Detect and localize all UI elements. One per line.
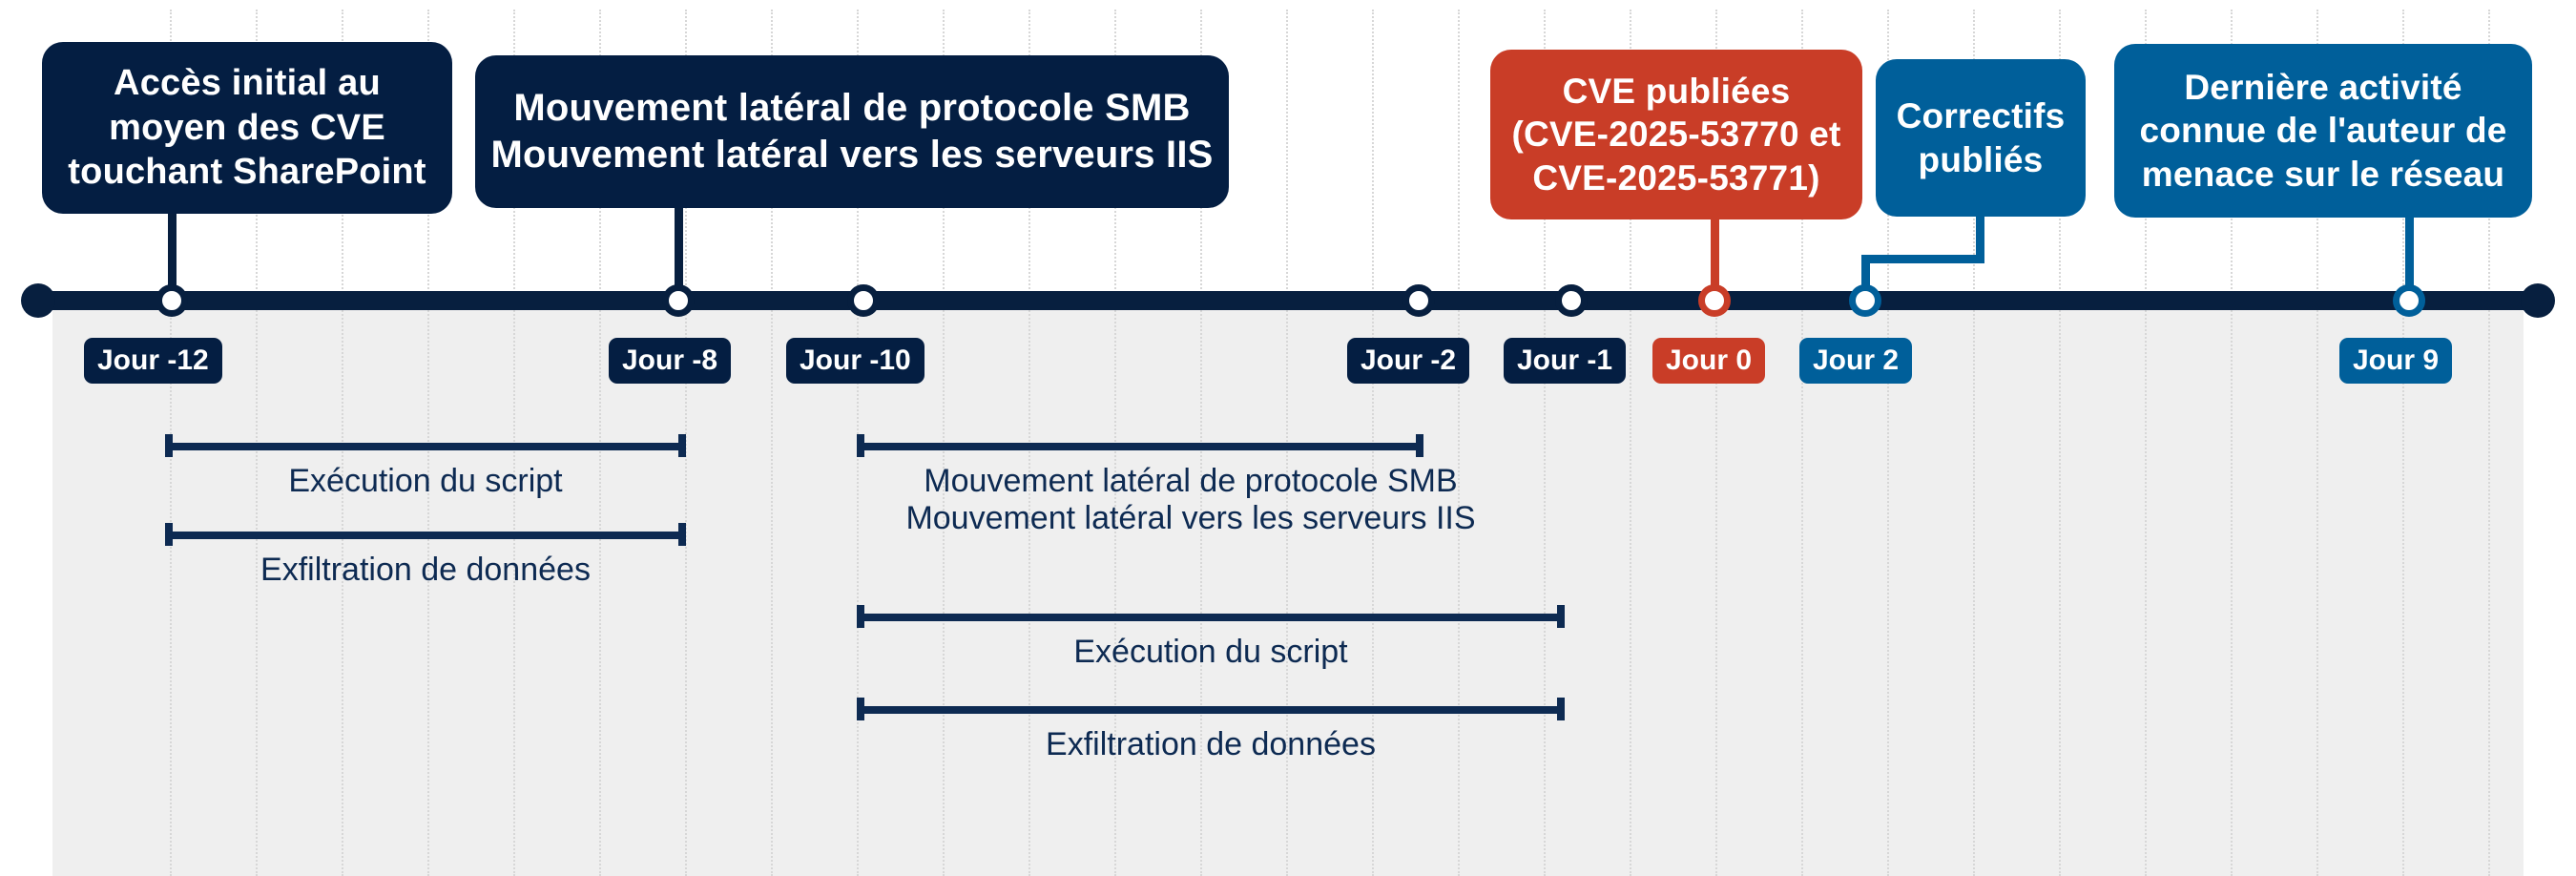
bracket-tick-right xyxy=(1416,434,1423,457)
bracket-bar xyxy=(857,443,1423,450)
day-chip-jour-minus-12[interactable]: Jour -12 xyxy=(84,338,222,384)
bracket-label-script-execution-early: Exécution du script xyxy=(165,463,686,500)
node-jour-0[interactable] xyxy=(1698,284,1731,317)
day-chip-jour-minus-8[interactable]: Jour -8 xyxy=(609,338,731,384)
bracket-tick-right xyxy=(1557,605,1565,628)
day-chip-label: Jour 0 xyxy=(1666,344,1752,377)
axis-start-cap xyxy=(21,283,55,318)
node-jour-minus-10[interactable] xyxy=(847,284,880,317)
day-chip-label: Jour 2 xyxy=(1813,344,1899,377)
day-chip-label: Jour -12 xyxy=(97,344,209,377)
day-chip-jour-minus-2[interactable]: Jour -2 xyxy=(1347,338,1469,384)
bracket-bar xyxy=(165,443,686,450)
event-card-text: Dernière activité connue de l'auteur de … xyxy=(2139,66,2506,195)
day-chip-label: Jour -8 xyxy=(622,344,717,377)
day-chip-label: Jour -1 xyxy=(1517,344,1612,377)
event-card-text: Correctifs publiés xyxy=(1897,94,2066,180)
bracket-bar xyxy=(857,614,1565,621)
event-card-text: Mouvement latéral de protocole SMB Mouve… xyxy=(490,85,1213,178)
bracket-data-exfiltration-later xyxy=(857,698,1565,720)
bracket-bar xyxy=(165,532,686,539)
bracket-label-script-execution-later: Exécution du script xyxy=(857,634,1565,671)
bracket-tick-left xyxy=(857,434,864,457)
bracket-tick-right xyxy=(678,523,686,546)
node-jour-2[interactable] xyxy=(1849,284,1881,317)
event-card-last-known-activity[interactable]: Dernière activité connue de l'auteur de … xyxy=(2114,44,2532,218)
bracket-label-data-exfiltration-later: Exfiltration de données xyxy=(857,726,1565,763)
bracket-bar xyxy=(857,706,1565,714)
event-card-text: CVE publiées (CVE-2025-53770 et CVE-2025… xyxy=(1511,70,1840,198)
elbow-segment-horizontal xyxy=(1861,255,1984,263)
event-card-cve-published[interactable]: CVE publiées (CVE-2025-53770 et CVE-2025… xyxy=(1490,50,1862,219)
timeline-diagram: Accès initial au moyen des CVE touchant … xyxy=(0,0,2576,860)
day-chip-label: Jour -2 xyxy=(1361,344,1456,377)
bracket-lateral-movement-later xyxy=(857,434,1423,457)
bracket-script-execution-early xyxy=(165,434,686,457)
bracket-tick-left xyxy=(165,434,173,457)
timeline-axis xyxy=(38,291,2538,310)
node-jour-minus-1[interactable] xyxy=(1555,284,1588,317)
day-chip-jour-0[interactable]: Jour 0 xyxy=(1652,338,1765,384)
bracket-tick-left xyxy=(857,698,864,720)
background-band xyxy=(52,308,2524,876)
day-chip-jour-minus-10[interactable]: Jour -10 xyxy=(786,338,924,384)
bracket-script-execution-later xyxy=(857,605,1565,628)
day-chip-jour-9[interactable]: Jour 9 xyxy=(2339,338,2452,384)
day-chip-label: Jour -10 xyxy=(800,344,911,377)
bracket-label-lateral-movement-later: Mouvement latéral de protocole SMB Mouve… xyxy=(857,463,1525,537)
event-card-patches-published[interactable]: Correctifs publiés xyxy=(1876,59,2086,217)
node-jour-minus-12[interactable] xyxy=(156,284,188,317)
bracket-tick-left xyxy=(165,523,173,546)
bracket-label-data-exfiltration-early: Exfiltration de données xyxy=(165,552,686,589)
bracket-tick-right xyxy=(1557,698,1565,720)
event-card-text: Accès initial au moyen des CVE touchant … xyxy=(68,61,426,194)
bracket-tick-left xyxy=(857,605,864,628)
bracket-tick-right xyxy=(678,434,686,457)
event-card-lateral-movement[interactable]: Mouvement latéral de protocole SMB Mouve… xyxy=(475,55,1229,208)
axis-end-cap xyxy=(2521,283,2555,318)
day-chip-jour-2[interactable]: Jour 2 xyxy=(1799,338,1912,384)
bracket-data-exfiltration-early xyxy=(165,523,686,546)
node-jour-minus-2[interactable] xyxy=(1402,284,1435,317)
event-card-initial-access[interactable]: Accès initial au moyen des CVE touchant … xyxy=(42,42,452,214)
day-chip-jour-minus-1[interactable]: Jour -1 xyxy=(1504,338,1626,384)
day-chip-label: Jour 9 xyxy=(2353,344,2439,377)
node-jour-minus-8[interactable] xyxy=(662,284,695,317)
node-jour-9[interactable] xyxy=(2393,284,2425,317)
